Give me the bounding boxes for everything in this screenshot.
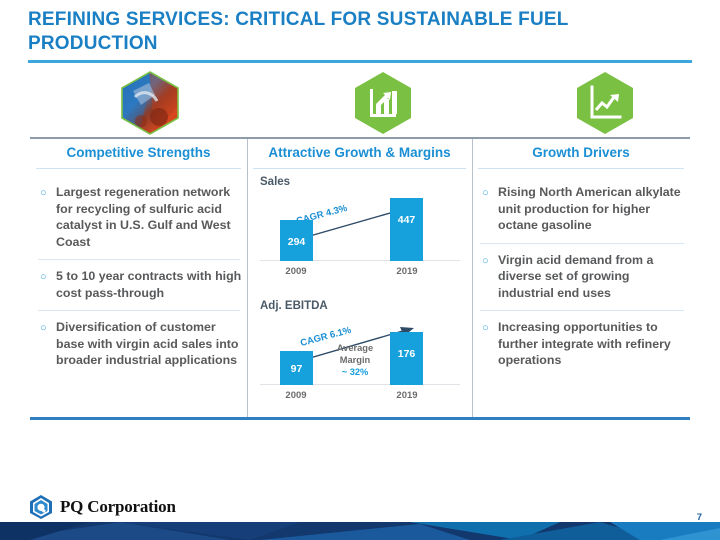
page-title: REFINING SERVICES: CRITICAL FOR SUSTAINA… [28,8,668,56]
slide: REFINING SERVICES: CRITICAL FOR SUSTAINA… [0,0,720,540]
header-underline-3 [478,168,684,169]
bar-value-2009-sales: 294 [280,236,313,248]
list-item: ○ Virgin acid demand from a diverse set … [478,244,686,311]
refinery-photo-hex-icon [115,70,185,136]
column-header-competitive-strengths: Competitive Strengths [32,145,245,160]
bar-value-2019-adj-ebitda: 176 [390,348,423,360]
bullet-circle-icon: ○ [482,188,491,234]
line-chart-growth-hex-icon [570,70,640,136]
bullet-circle-icon: ○ [40,188,49,250]
chart-adj-ebitda: Adj. EBITDA CAGR 6.1% 97 176 Average Mar… [254,300,466,416]
title-divider [28,60,692,63]
list-item-label: 5 to 10 year contracts with high cost pa… [56,268,242,301]
x-tick-2019-sales: 2019 [380,266,434,277]
bullet-circle-icon: ○ [482,323,491,369]
list-item-label: Increasing opportunities to further inte… [498,319,686,369]
list-item-label: Rising North American alkylate unit prod… [498,184,686,234]
bullet-circle-icon: ○ [40,323,49,369]
list-item: ○ 5 to 10 year contracts with high cost … [36,260,242,310]
pq-hexagon-logo-icon [28,494,54,520]
x-tick-2019-adj-ebitda: 2019 [380,390,434,401]
column-divider-2 [472,139,473,418]
bar-chart-growth-hex-icon [348,70,418,136]
list-item-label: Diversification of customer base with vi… [56,319,242,369]
company-logo: PQ Corporation [28,494,176,520]
chart-plot-area-adj-ebitda: CAGR 6.1% 97 176 Average Margin ~ 32% 20… [254,320,466,402]
logo-text: PQ Corporation [60,497,176,517]
bullet-list-competitive-strengths: ○ Largest regeneration network for recyc… [36,176,242,378]
list-item: ○ Rising North American alkylate unit pr… [478,176,686,243]
column-header-attractive-growth-margins: Attractive Growth & Margins [249,145,470,160]
average-margin-line-2: Margin [323,354,387,366]
column-divider-1 [247,139,248,418]
x-tick-2009-adj-ebitda: 2009 [269,390,323,401]
icon-row [30,70,690,138]
x-tick-2009-sales: 2009 [269,266,323,277]
average-margin-line-1: Average [323,342,387,354]
header-underline-2 [253,168,466,169]
panel-bottom-divider [30,417,690,420]
list-item: ○ Largest regeneration network for recyc… [36,176,242,259]
bar-value-2009-adj-ebitda: 97 [280,363,313,375]
chart-plot-area-sales: CAGR 4.3% 294 447 2009 2019 [254,196,466,278]
column-header-growth-drivers: Growth Drivers [474,145,688,160]
decorative-bottom-band [0,522,720,540]
list-item: ○ Increasing opportunities to further in… [478,311,686,378]
header-underline-1 [36,168,241,169]
bar-2019-sales [390,198,423,261]
bullet-circle-icon: ○ [482,256,491,302]
list-item: ○ Diversification of customer base with … [36,311,242,378]
chart-title-adj-ebitda: Adj. EBITDA [260,300,328,312]
bullet-list-growth-drivers: ○ Rising North American alkylate unit pr… [478,176,686,378]
bar-value-2019-sales: 447 [390,214,423,226]
average-margin-note: Average Margin ~ 32% [323,342,387,378]
panel-top-divider [30,137,690,139]
chart-title-sales: Sales [260,176,290,188]
average-margin-line-3: ~ 32% [323,366,387,378]
list-item-label: Largest regeneration network for recycli… [56,184,242,250]
list-item-label: Virgin acid demand from a diverse set of… [498,252,686,302]
bullet-circle-icon: ○ [40,272,49,301]
chart-sales: Sales CAGR 4.3% 294 447 2009 2019 [254,176,466,296]
